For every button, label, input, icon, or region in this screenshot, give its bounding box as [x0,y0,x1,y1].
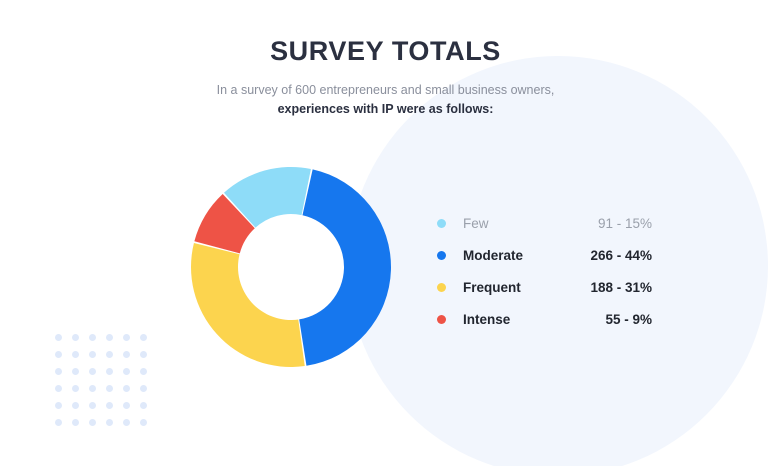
legend-row[interactable]: Moderate266 - 44% [437,239,652,271]
dot-grid-dot [123,419,130,426]
legend-color-dot-icon [437,283,446,292]
dot-grid-dot [55,402,62,409]
dot-grid-dot [123,351,130,358]
dot-grid-dot [89,402,96,409]
subtitle: In a survey of 600 entrepreneurs and sma… [0,81,771,120]
donut-slice-frequent[interactable] [191,243,305,367]
dot-grid-dot [123,385,130,392]
dot-grid-dot [106,419,113,426]
chart-legend: Few91 - 15%Moderate266 - 44%Frequent188 … [437,207,652,335]
page-title: SURVEY TOTALS [0,36,771,67]
dot-grid-dot [72,351,79,358]
legend-label: Few [463,216,598,231]
dot-grid-dot [72,334,79,341]
dot-grid-dot [55,351,62,358]
dot-grid-decoration [55,334,157,436]
dot-grid-dot [89,351,96,358]
dot-grid-dot [89,385,96,392]
subtitle-line-1: In a survey of 600 entrepreneurs and sma… [0,81,771,100]
header: SURVEY TOTALS In a survey of 600 entrepr… [0,36,771,120]
legend-value: 188 - 31% [590,280,652,295]
dot-grid-dot [55,334,62,341]
donut-chart-svg [191,167,391,367]
donut-slice-moderate[interactable] [299,169,391,365]
dot-grid-dot [106,334,113,341]
dot-grid-dot [140,334,147,341]
dot-grid-dot [123,402,130,409]
legend-row[interactable]: Frequent188 - 31% [437,271,652,303]
dot-grid-dot [89,368,96,375]
dot-grid-dot [140,402,147,409]
infographic-canvas: SURVEY TOTALS In a survey of 600 entrepr… [0,0,771,466]
donut-chart [191,167,391,367]
dot-grid-dot [123,334,130,341]
subtitle-line-2: experiences with IP were as follows: [0,100,771,119]
legend-color-dot-icon [437,251,446,260]
dot-grid-dot [55,368,62,375]
dot-grid-dot [72,385,79,392]
legend-label: Intense [463,312,605,327]
dot-grid-dot [140,351,147,358]
dot-grid-dot [140,419,147,426]
legend-label: Moderate [463,248,590,263]
legend-color-dot-icon [437,219,446,228]
dot-grid-dot [106,368,113,375]
dot-grid-dot [123,368,130,375]
legend-row[interactable]: Intense55 - 9% [437,303,652,335]
dot-grid-dot [140,385,147,392]
dot-grid-dot [140,368,147,375]
legend-value: 91 - 15% [598,216,652,231]
dot-grid-dot [55,385,62,392]
dot-grid-dot [72,419,79,426]
dot-grid-dot [89,334,96,341]
dot-grid-dot [106,351,113,358]
dot-grid-dot [106,385,113,392]
legend-color-dot-icon [437,315,446,324]
legend-value: 266 - 44% [590,248,652,263]
dot-grid-dot [89,419,96,426]
dot-grid-dot [55,419,62,426]
dot-grid-dot [106,402,113,409]
dot-grid-dot [72,402,79,409]
legend-value: 55 - 9% [605,312,652,327]
dot-grid-dot [72,368,79,375]
legend-label: Frequent [463,280,590,295]
legend-row[interactable]: Few91 - 15% [437,207,652,239]
